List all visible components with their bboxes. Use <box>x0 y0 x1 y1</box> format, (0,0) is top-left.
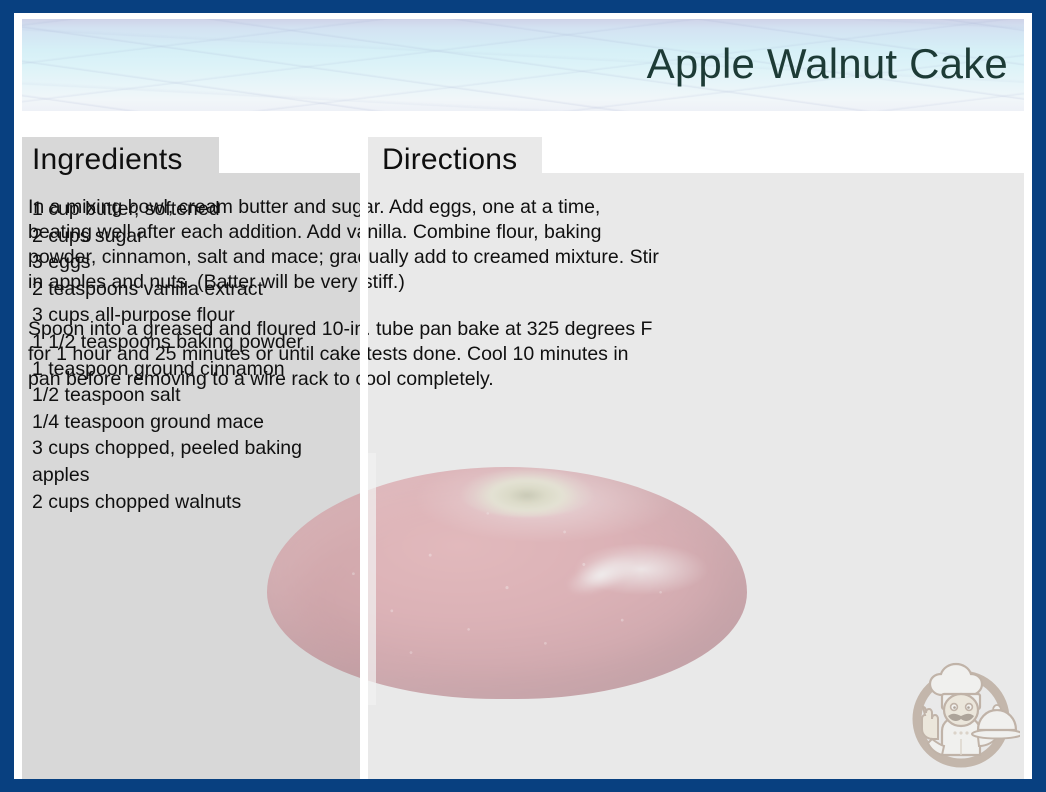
directions-body: In a mixing bowl, cream butter and sugar… <box>28 195 662 392</box>
list-item: 3 cups chopped, peeled baking apples <box>32 435 358 488</box>
chef-logo <box>902 653 1020 771</box>
section-tab-ingredients: Ingredients <box>22 137 219 182</box>
directions-heading: Directions <box>382 143 517 177</box>
page-title: Apple Walnut Cake <box>647 43 1008 85</box>
list-item: 1/4 teaspoon ground mace <box>32 409 358 436</box>
section-tab-directions: Directions <box>368 137 542 182</box>
column-gutter <box>360 137 368 779</box>
directions-paragraph: In a mixing bowl, cream butter and sugar… <box>28 195 662 295</box>
slide-content-area: Apple Walnut Cake Ingredients Directions… <box>14 13 1032 779</box>
title-banner: Apple Walnut Cake <box>22 19 1024 111</box>
ingredients-heading: Ingredients <box>32 143 183 177</box>
chef-logo-icon <box>902 653 1020 771</box>
list-item: 2 cups chopped walnuts <box>32 489 358 516</box>
directions-paragraph: Spoon into a greased and floured 10-in. … <box>28 317 662 392</box>
recipe-slide: Apple Walnut Cake Ingredients Directions… <box>0 0 1046 792</box>
